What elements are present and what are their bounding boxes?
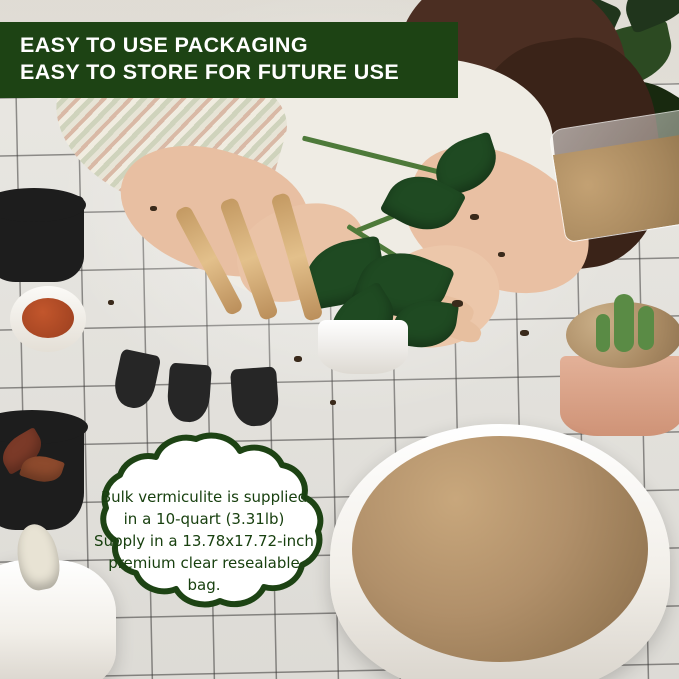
callout-line-3: Supply in a 13.78x17.72-inch — [90, 530, 318, 552]
small-white-pot — [318, 320, 408, 374]
cloud-callout: Bulk vermiculite is supplied in a 10-qua… — [54, 424, 354, 644]
soil-crumb — [470, 214, 479, 220]
red-powder — [22, 298, 74, 338]
vermiculite-fill — [352, 436, 648, 662]
soil-crumb — [330, 400, 336, 405]
soil-crumb — [108, 300, 114, 305]
headline-banner: EASY TO USE PACKAGING EASY TO STORE FOR … — [0, 22, 458, 98]
callout-line-5: bag. — [90, 574, 318, 596]
soil-crumb — [150, 206, 157, 211]
soil-crumb — [452, 300, 463, 307]
callout-line-2: in a 10-quart (3.31lb) — [90, 508, 318, 530]
cloud-callout-text: Bulk vermiculite is supplied in a 10-qua… — [90, 486, 318, 596]
vermiculite-bag — [548, 107, 679, 243]
soil-crumb — [294, 356, 302, 362]
cactus — [614, 294, 634, 352]
callout-line-1: Bulk vermiculite is supplied — [90, 486, 318, 508]
callout-line-4: premium clear resealable — [90, 552, 318, 574]
headline-line-2: EASY TO STORE FOR FUTURE USE — [20, 59, 440, 86]
terracotta-pot — [560, 356, 679, 436]
soil-crumb — [520, 330, 529, 336]
cactus — [596, 314, 610, 352]
product-lifestyle-image: EASY TO USE PACKAGING EASY TO STORE FOR … — [0, 0, 679, 679]
cactus — [638, 306, 654, 350]
headline-line-1: EASY TO USE PACKAGING — [20, 32, 440, 59]
soil-crumb — [498, 252, 505, 257]
